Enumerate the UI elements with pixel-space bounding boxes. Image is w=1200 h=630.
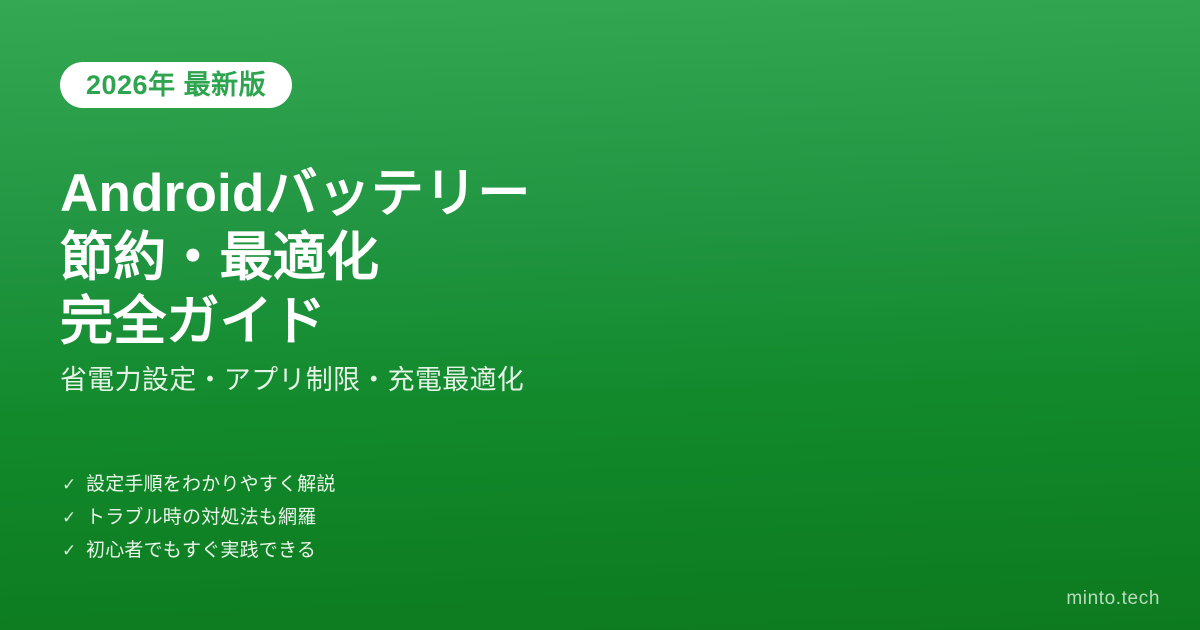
page-title-line-1: Androidバッテリー	[60, 162, 1100, 226]
list-item: ✓ 設定手順をわかりやすく解説	[62, 468, 336, 501]
list-item: ✓ 初心者でもすぐ実践できる	[62, 534, 336, 567]
og-card: 2026年 最新版 Androidバッテリー 節約・最適化 完全ガイド 省電力設…	[0, 0, 1200, 630]
list-item-label: トラブル時の対処法も網羅	[86, 508, 316, 527]
check-icon: ✓	[62, 509, 86, 526]
list-item: ✓ トラブル時の対処法も網羅	[62, 501, 336, 534]
feature-list: ✓ 設定手順をわかりやすく解説 ✓ トラブル時の対処法も網羅 ✓ 初心者でもすぐ…	[62, 468, 336, 567]
page-title-line-3: 完全ガイド	[60, 290, 1100, 354]
check-icon: ✓	[62, 476, 86, 493]
edition-badge: 2026年 最新版	[60, 62, 292, 108]
list-item-label: 設定手順をわかりやすく解説	[86, 475, 336, 494]
check-icon: ✓	[62, 542, 86, 559]
page-title: Androidバッテリー 節約・最適化 完全ガイド	[60, 162, 1100, 354]
edition-badge-label: 2026年 最新版	[86, 72, 266, 99]
page-subtitle: 省電力設定・アプリ制限・充電最適化	[60, 362, 524, 398]
page-title-line-2: 節約・最適化	[60, 226, 1100, 290]
card-content: 2026年 最新版 Androidバッテリー 節約・最適化 完全ガイド 省電力設…	[60, 0, 1140, 630]
site-watermark: minto.tech	[1066, 589, 1160, 608]
list-item-label: 初心者でもすぐ実践できる	[86, 541, 316, 560]
